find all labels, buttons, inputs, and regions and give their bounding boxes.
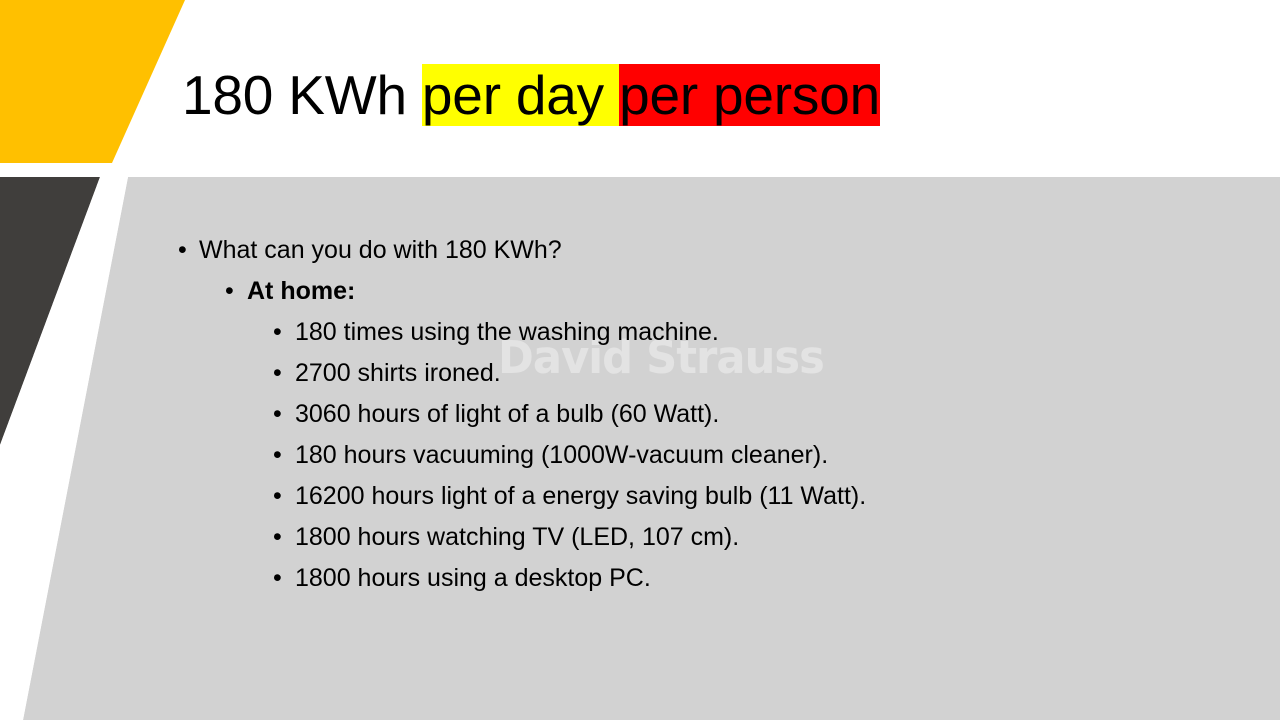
list-item: • At home: bbox=[178, 271, 1238, 312]
slide-body-list: • What can you do with 180 KWh? • At hom… bbox=[178, 230, 1238, 599]
list-item-label: What can you do with 180 KWh? bbox=[199, 230, 562, 271]
bullet-icon: • bbox=[273, 353, 295, 394]
list-item-label: 3060 hours of light of a bulb (60 Watt). bbox=[295, 394, 719, 435]
slide-title: 180 KWh per day per person bbox=[182, 58, 880, 132]
list-item-label: 1800 hours watching TV (LED, 107 cm). bbox=[295, 517, 739, 558]
white-diagonal-stripe bbox=[0, 177, 128, 720]
bullet-icon: • bbox=[273, 435, 295, 476]
dark-gray-triangle bbox=[0, 177, 100, 445]
list-item: • 180 hours vacuuming (1000W-vacuum clea… bbox=[178, 435, 1238, 476]
presentation-slide: 180 KWh per day per person David Strauss… bbox=[0, 0, 1280, 720]
title-run-highlight-yellow: per day bbox=[422, 64, 619, 126]
list-item-label: 16200 hours light of a energy saving bul… bbox=[295, 476, 866, 517]
list-item-label: 180 times using the washing machine. bbox=[295, 312, 719, 353]
list-item-label: 180 hours vacuuming (1000W-vacuum cleane… bbox=[295, 435, 828, 476]
list-item: • 16200 hours light of a energy saving b… bbox=[178, 476, 1238, 517]
title-run-highlight-red: per person bbox=[619, 64, 880, 126]
list-item: • 180 times using the washing machine. bbox=[178, 312, 1238, 353]
bullet-icon: • bbox=[273, 312, 295, 353]
list-item: • What can you do with 180 KWh? bbox=[178, 230, 1238, 271]
bullet-icon: • bbox=[273, 394, 295, 435]
bullet-icon: • bbox=[273, 517, 295, 558]
bullet-icon: • bbox=[273, 476, 295, 517]
title-run-plain: 180 KWh bbox=[182, 64, 422, 126]
bullet-icon: • bbox=[225, 271, 247, 312]
list-item: • 1800 hours using a desktop PC. bbox=[178, 558, 1238, 599]
list-item: • 3060 hours of light of a bulb (60 Watt… bbox=[178, 394, 1238, 435]
bullet-icon: • bbox=[178, 230, 199, 271]
list-item: • 2700 shirts ironed. bbox=[178, 353, 1238, 394]
list-item: • 1800 hours watching TV (LED, 107 cm). bbox=[178, 517, 1238, 558]
amber-corner-shape bbox=[0, 0, 185, 163]
list-item-label: 1800 hours using a desktop PC. bbox=[295, 558, 651, 599]
list-item-label: 2700 shirts ironed. bbox=[295, 353, 501, 394]
list-item-label: At home: bbox=[247, 271, 355, 312]
bullet-icon: • bbox=[273, 558, 295, 599]
